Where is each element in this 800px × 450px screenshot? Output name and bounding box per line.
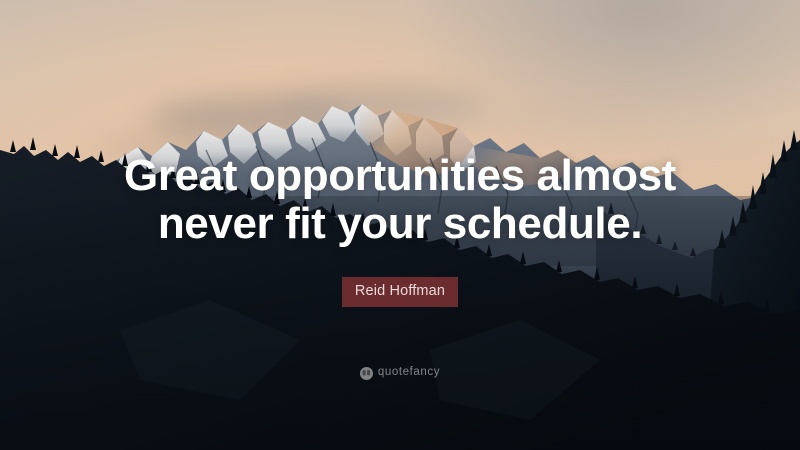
watermark-brand: quotefancy [378,367,440,379]
quote-line-2: never fit your schedule. [0,200,800,248]
author-attribution: Reid Hoffman [0,277,800,307]
author-name-badge[interactable]: Reid Hoffman [342,277,458,307]
watermark-inner[interactable]: quotefancy [360,367,440,380]
watermark: quotefancy [0,364,800,382]
quote-poster: Great opportunities almost never fit you… [0,0,800,450]
quote-text: Great opportunities almost never fit you… [0,152,800,248]
quote-line-1: Great opportunities almost [0,152,800,200]
quote-mark-circle-icon [360,367,373,380]
